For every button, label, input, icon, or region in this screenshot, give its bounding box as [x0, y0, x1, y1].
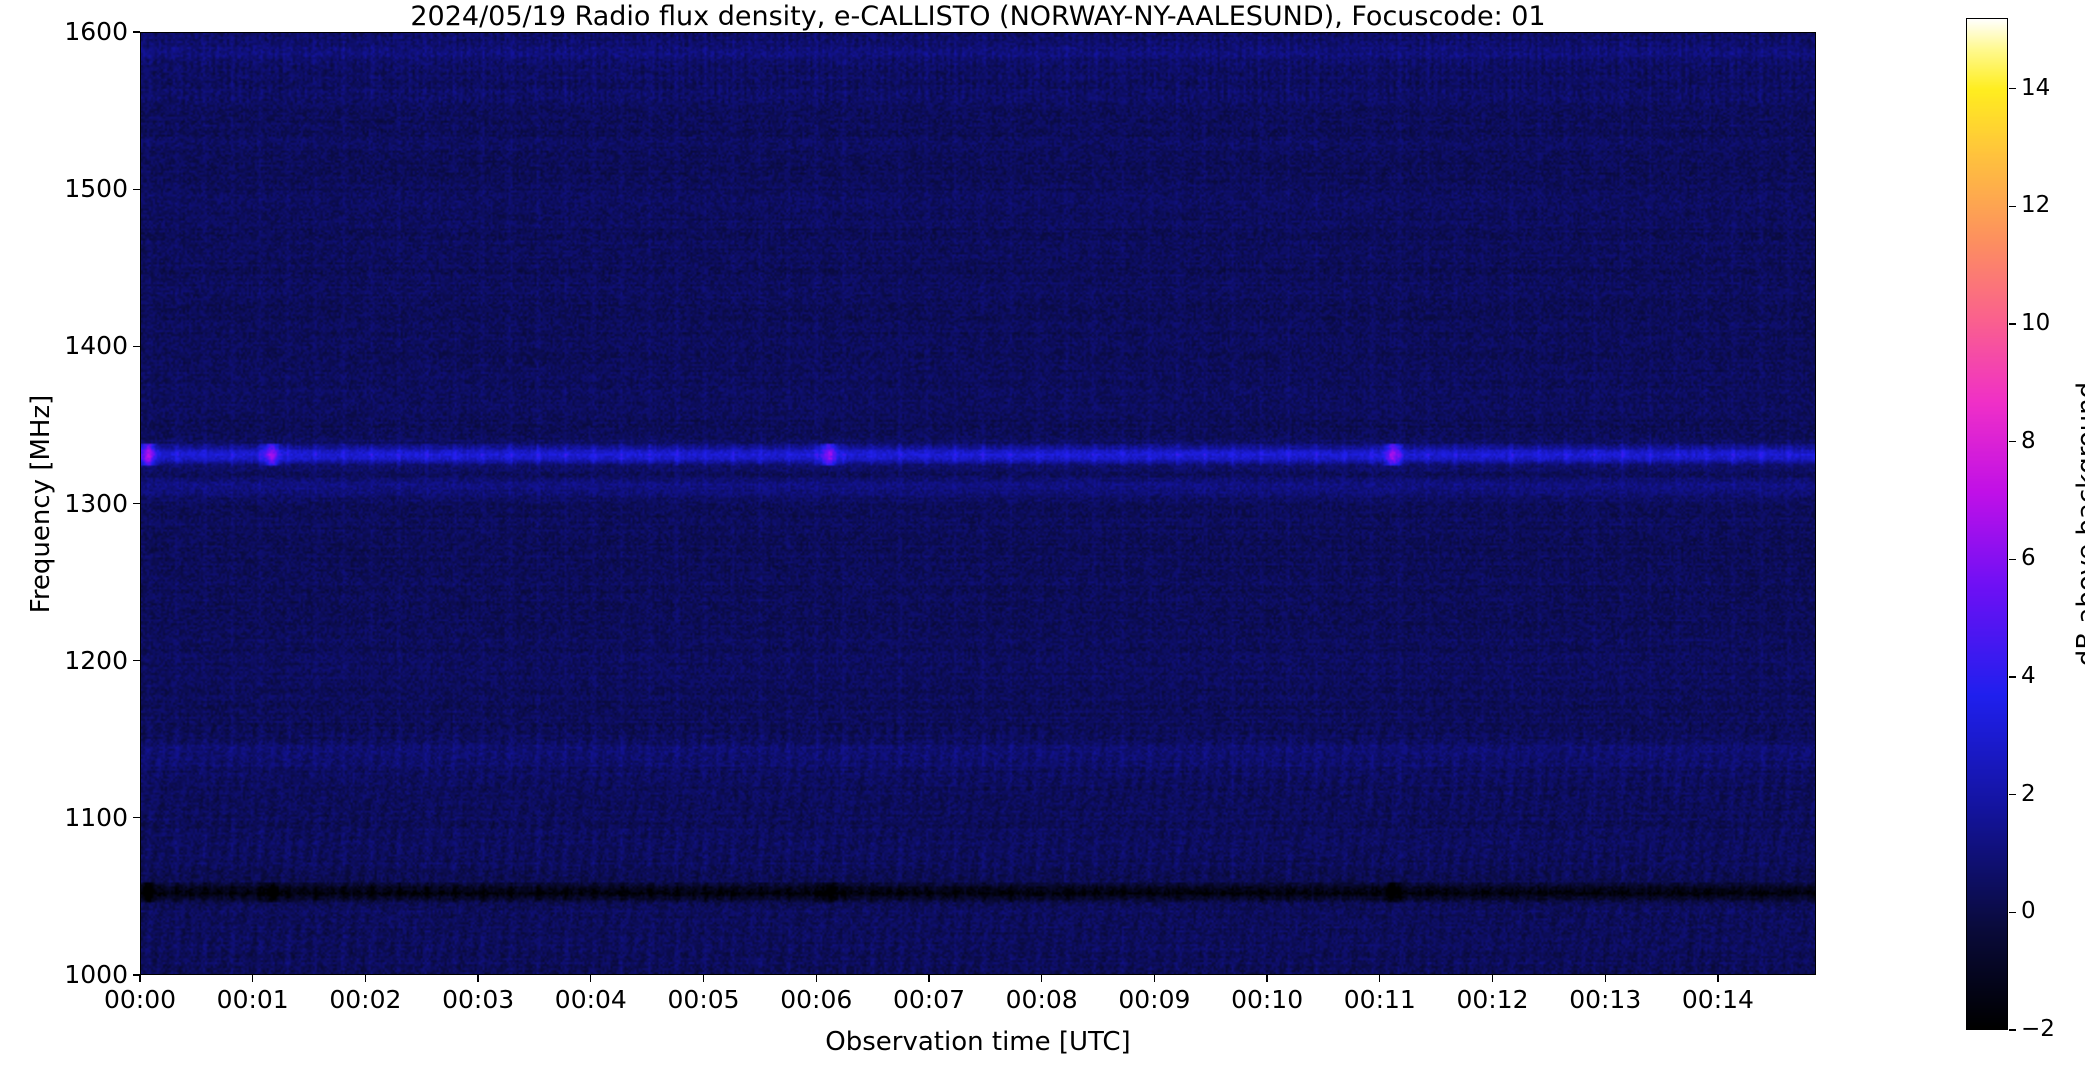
colorbar-tick-label: 8 — [2021, 430, 2036, 453]
x-tick-mark — [1154, 975, 1155, 982]
x-tick-mark — [1041, 975, 1042, 982]
x-tick-mark — [139, 975, 140, 982]
y-tick-mark — [133, 189, 140, 190]
x-tick-mark — [1492, 975, 1493, 982]
colorbar[interactable] — [1966, 18, 2008, 1030]
x-tick-mark — [703, 975, 704, 982]
colorbar-tick-label: 4 — [2021, 665, 2036, 688]
y-axis-label: Frequency [MHz] — [26, 394, 56, 613]
colorbar-tick-label: 0 — [2021, 900, 2036, 923]
spectrogram-figure: 2024/05/19 Radio flux density, e-CALLIST… — [0, 0, 2085, 1067]
colorbar-tick-mark — [2009, 323, 2016, 324]
colorbar-tick-label: 6 — [2021, 547, 2036, 570]
x-tick-mark — [365, 975, 366, 982]
y-tick-mark — [133, 31, 140, 32]
x-tick-mark — [252, 975, 253, 982]
y-tick-label: 1500 — [8, 176, 128, 201]
x-tick-label: 00:14 — [1648, 987, 1788, 1012]
x-tick-mark — [1266, 975, 1267, 982]
x-tick-mark — [816, 975, 817, 982]
colorbar-tick-label: 14 — [2021, 77, 2050, 100]
colorbar-tick-mark — [2009, 794, 2016, 795]
colorbar-tick-label: 12 — [2021, 194, 2050, 217]
y-tick-label: 1400 — [8, 333, 128, 358]
colorbar-tick-mark — [2009, 441, 2016, 442]
x-tick-mark — [1717, 975, 1718, 982]
x-tick-mark — [590, 975, 591, 982]
x-tick-mark — [928, 975, 929, 982]
colorbar-tick-mark — [2009, 88, 2016, 89]
colorbar-tick-mark — [2009, 559, 2016, 560]
x-axis-label: Observation time [UTC] — [140, 1027, 1816, 1057]
colorbar-tick-label: −2 — [2021, 1018, 2055, 1041]
x-tick-mark — [1605, 975, 1606, 982]
y-tick-label: 1100 — [8, 805, 128, 830]
y-tick-mark — [133, 817, 140, 818]
colorbar-gradient — [1967, 19, 2007, 1029]
y-tick-label: 1600 — [8, 19, 128, 44]
page-title: 2024/05/19 Radio flux density, e-CALLIST… — [140, 2, 1816, 32]
colorbar-tick-mark — [2009, 912, 2016, 913]
y-tick-mark — [133, 346, 140, 347]
spectrogram-plot-area[interactable] — [140, 32, 1816, 975]
y-tick-mark — [133, 660, 140, 661]
colorbar-tick-mark — [2009, 676, 2016, 677]
colorbar-tick-label: 2 — [2021, 783, 2036, 806]
spectrogram-image — [141, 33, 1815, 974]
colorbar-tick-mark — [2009, 206, 2016, 207]
y-tick-mark — [133, 503, 140, 504]
y-tick-label: 1000 — [8, 962, 128, 987]
x-tick-mark — [1379, 975, 1380, 982]
x-tick-mark — [477, 975, 478, 982]
y-tick-label: 1200 — [8, 648, 128, 673]
colorbar-tick-label: 10 — [2021, 312, 2050, 335]
colorbar-label: dB above background — [2072, 382, 2085, 666]
colorbar-tick-mark — [2009, 1029, 2016, 1030]
